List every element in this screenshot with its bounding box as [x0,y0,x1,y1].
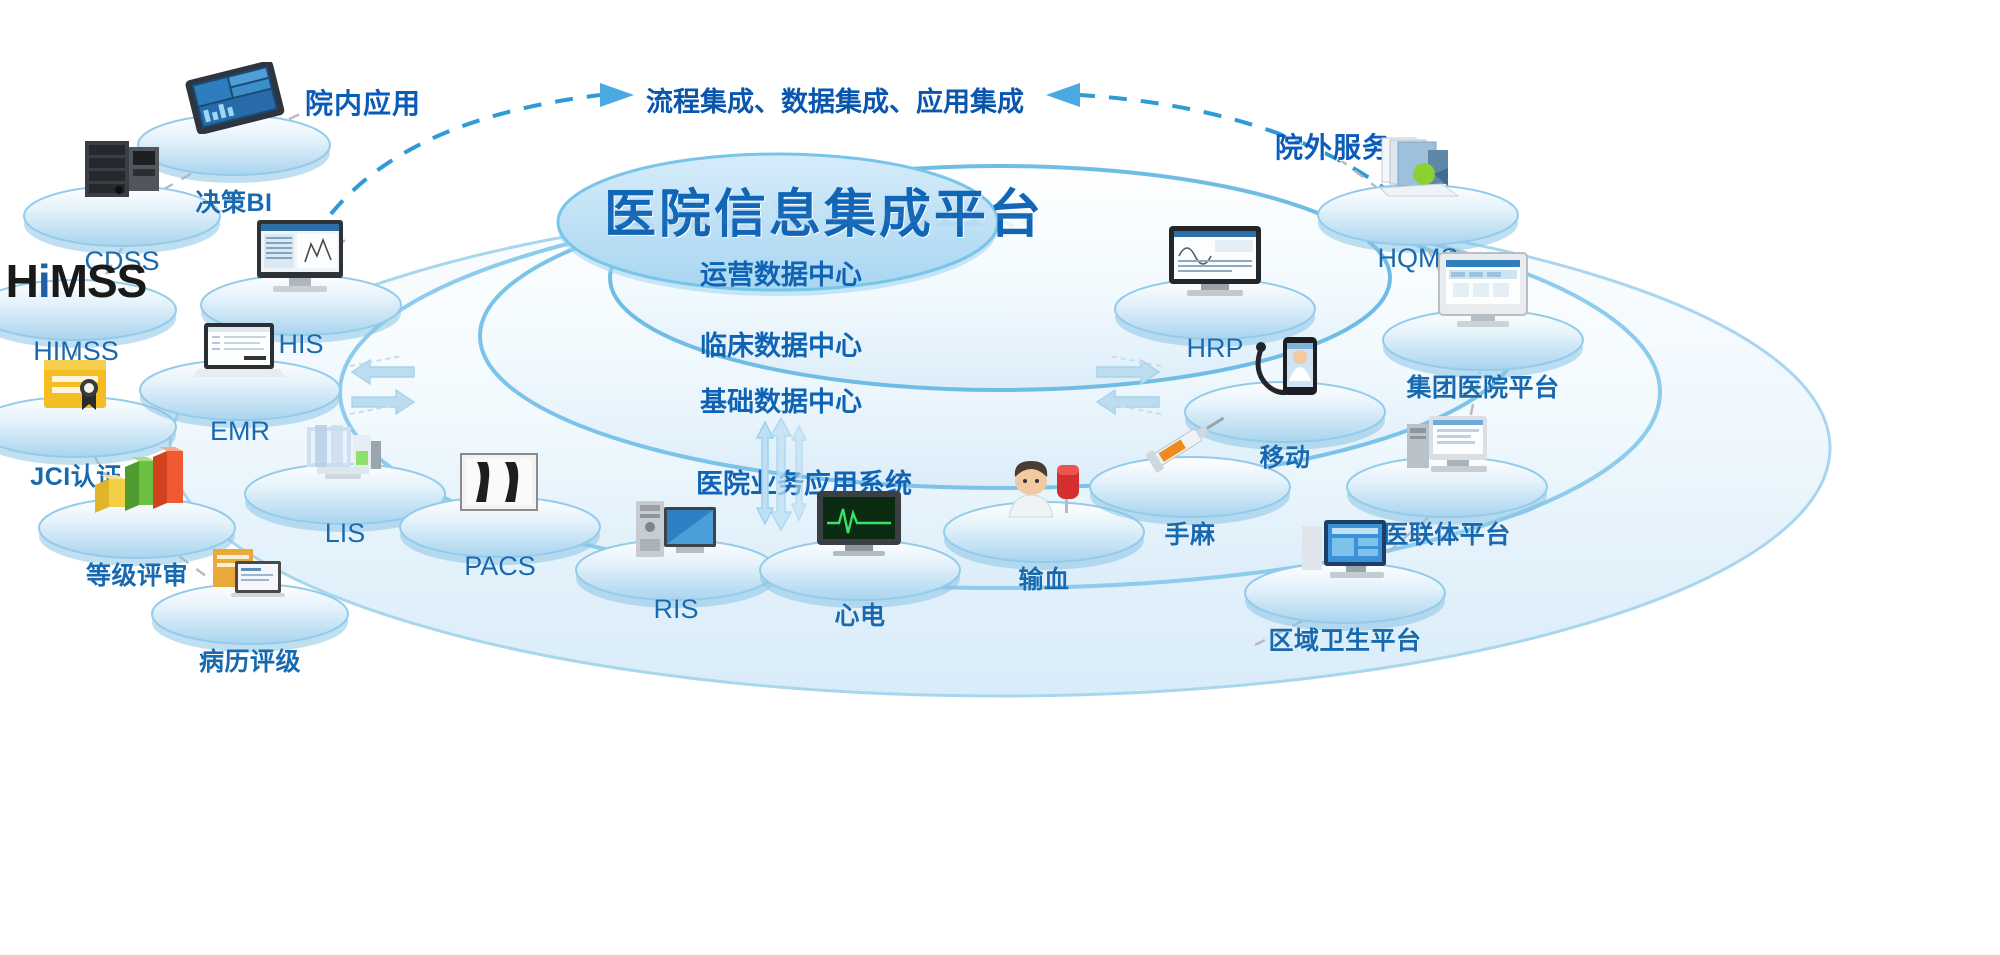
node-record-rating-label: 病历评级 [199,642,301,678]
node-grade-review-label: 等级评审 [86,556,188,592]
lab-analyzer-icon [301,421,389,494]
node-blood-transfusion-label: 输血 [1018,560,1069,596]
blood-bag-nurse-icon [1001,455,1087,532]
node-ecg-label: 心电 [834,596,885,632]
node-decision-bi-label: 决策BI [195,183,272,219]
xray-film-icon [457,450,543,527]
node-emr-label: EMR [210,416,270,447]
node-mobile-label: 移动 [1259,438,1310,474]
syringe-icon [1143,408,1237,487]
node-medical-alliance-label: 医联体平台 [1383,515,1511,551]
documents-folder-icon [1372,134,1464,215]
crt-monitor-icon [1435,249,1531,340]
tier-label-clinical: 临床数据中心 [700,324,862,363]
arrow-left-icon [1046,83,1080,107]
desktop-pc-icon [1401,408,1493,487]
blue-monitor-icon [1298,516,1392,593]
node-group-hospital-label: 集团医院平台 [1406,368,1559,404]
server-rack-icon [77,133,167,216]
node-pacs-label: PACS [464,551,536,582]
phone-stethoscope-icon [1243,331,1327,412]
node-anesthesia-label: 手麻 [1164,515,1215,551]
arrow-right-icon [600,83,634,107]
ecg-monitor-icon [813,487,907,570]
bar-chart-3d-icon [87,445,187,528]
integration-flow-label: 流程集成、数据集成、应用集成 [646,80,1024,119]
desktop-monitor-icon [253,216,349,305]
node-ris-label: RIS [653,594,698,625]
node-lis-label: LIS [325,518,366,549]
node-hrp-label: HRP [1186,333,1243,364]
tier-label-operational: 运营数据中心 [700,253,862,292]
desktop-chart-icon [1165,222,1265,309]
laptop-record-icon [194,319,286,390]
up-down-arrows-icon [745,412,815,532]
himss-logo-icon: HiMSS [6,258,147,310]
diagram-background [0,0,2000,955]
report-laptop-icon [205,541,295,614]
platform-title-reflection: 医院信息集成平台 [604,195,1044,236]
node-regional-health-label: 区域卫生平台 [1268,621,1421,657]
tablet-dashboard-icon [183,62,285,145]
certificate-seal-icon [36,354,116,427]
workstation-icon [630,493,722,570]
section-title-in-hospital: 院内应用 [305,82,421,122]
bidirectional-exchange-arrows-icon-left [340,352,426,422]
diagram-canvas: 院内应用 院外服务 流程集成、数据集成、应用集成 医院信息集成平台 医院信息集成… [0,0,2000,955]
